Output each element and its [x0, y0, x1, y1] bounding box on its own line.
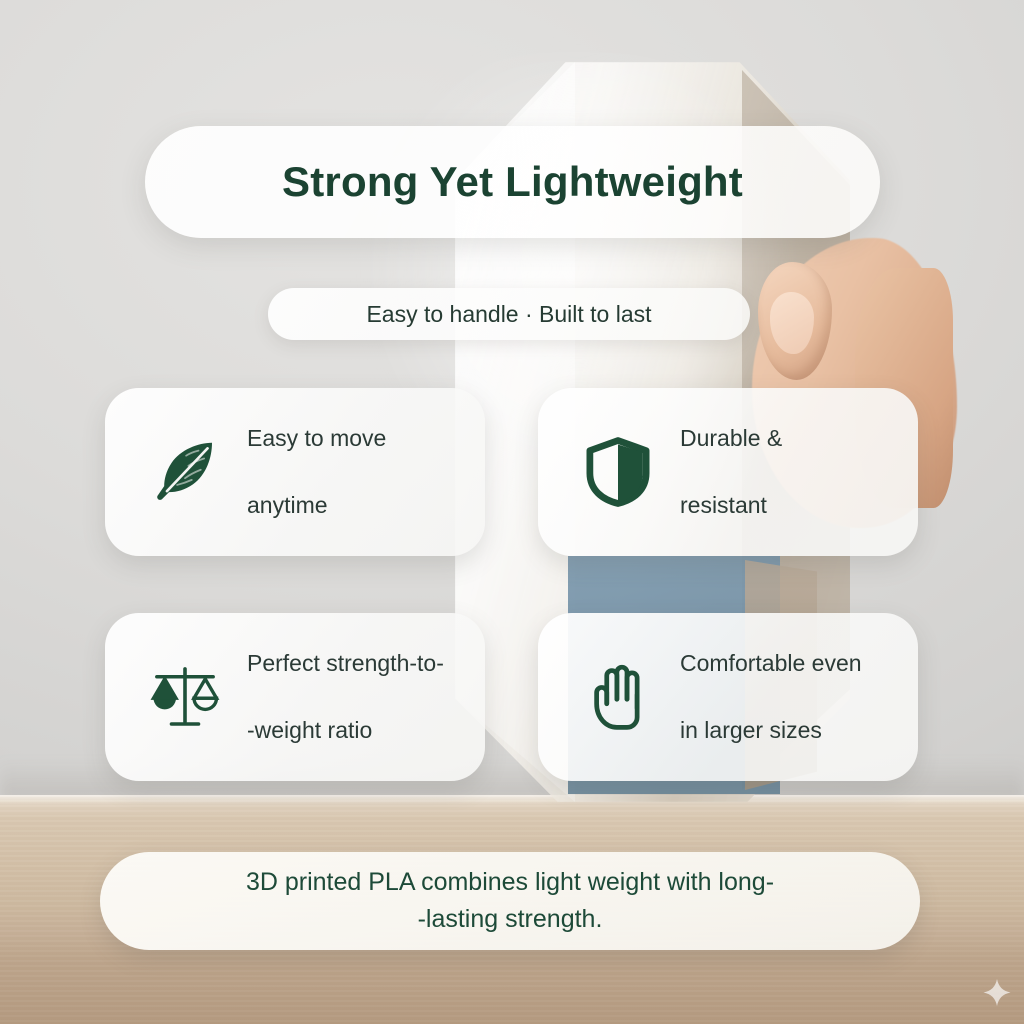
feature-line-1: Easy to move [247, 422, 386, 455]
feature-line-2: -weight ratio [247, 714, 485, 747]
page-subtitle: Easy to handle · Built to last [366, 301, 651, 328]
shield-icon [582, 436, 654, 508]
feature-card-label: Durable & resistant [680, 389, 782, 556]
summary-banner: 3D printed PLA combines light weight wit… [100, 852, 920, 950]
sparkle-icon [982, 978, 1012, 1008]
feature-line-1: Durable & [680, 422, 782, 455]
hand-icon [582, 661, 654, 733]
summary-line-1: 3D printed PLA combines light weight wit… [246, 864, 774, 902]
feature-line-1: Comfortable even [680, 647, 918, 680]
feature-card-label: Comfortable even in larger sizes [680, 614, 918, 781]
feather-icon [149, 436, 221, 508]
feature-line-2: resistant [680, 489, 782, 522]
feature-card-label: Easy to move anytime [247, 389, 386, 556]
feature-card-easy-to-move[interactable]: Easy to move anytime [105, 388, 485, 556]
page-title: Strong Yet Lightweight [282, 158, 743, 206]
feature-card-label: Perfect strength-to- -weight ratio [247, 614, 485, 781]
title-pill: Strong Yet Lightweight [145, 126, 880, 238]
feature-line-1: Perfect strength-to- [247, 647, 485, 680]
thumb-nail [770, 292, 814, 354]
feature-card-strength-to-weight[interactable]: Perfect strength-to- -weight ratio [105, 613, 485, 781]
infographic-stage: Strong Yet Lightweight Easy to handle · … [0, 0, 1024, 1024]
feature-card-durable-resistant[interactable]: Durable & resistant [538, 388, 918, 556]
feature-line-2: anytime [247, 489, 386, 522]
scales-icon [149, 661, 221, 733]
summary-line-2: -lasting strength. [418, 901, 603, 939]
feature-card-comfortable[interactable]: Comfortable even in larger sizes [538, 613, 918, 781]
subtitle-pill: Easy to handle · Built to last [268, 288, 750, 340]
feature-line-2: in larger sizes [680, 714, 918, 747]
